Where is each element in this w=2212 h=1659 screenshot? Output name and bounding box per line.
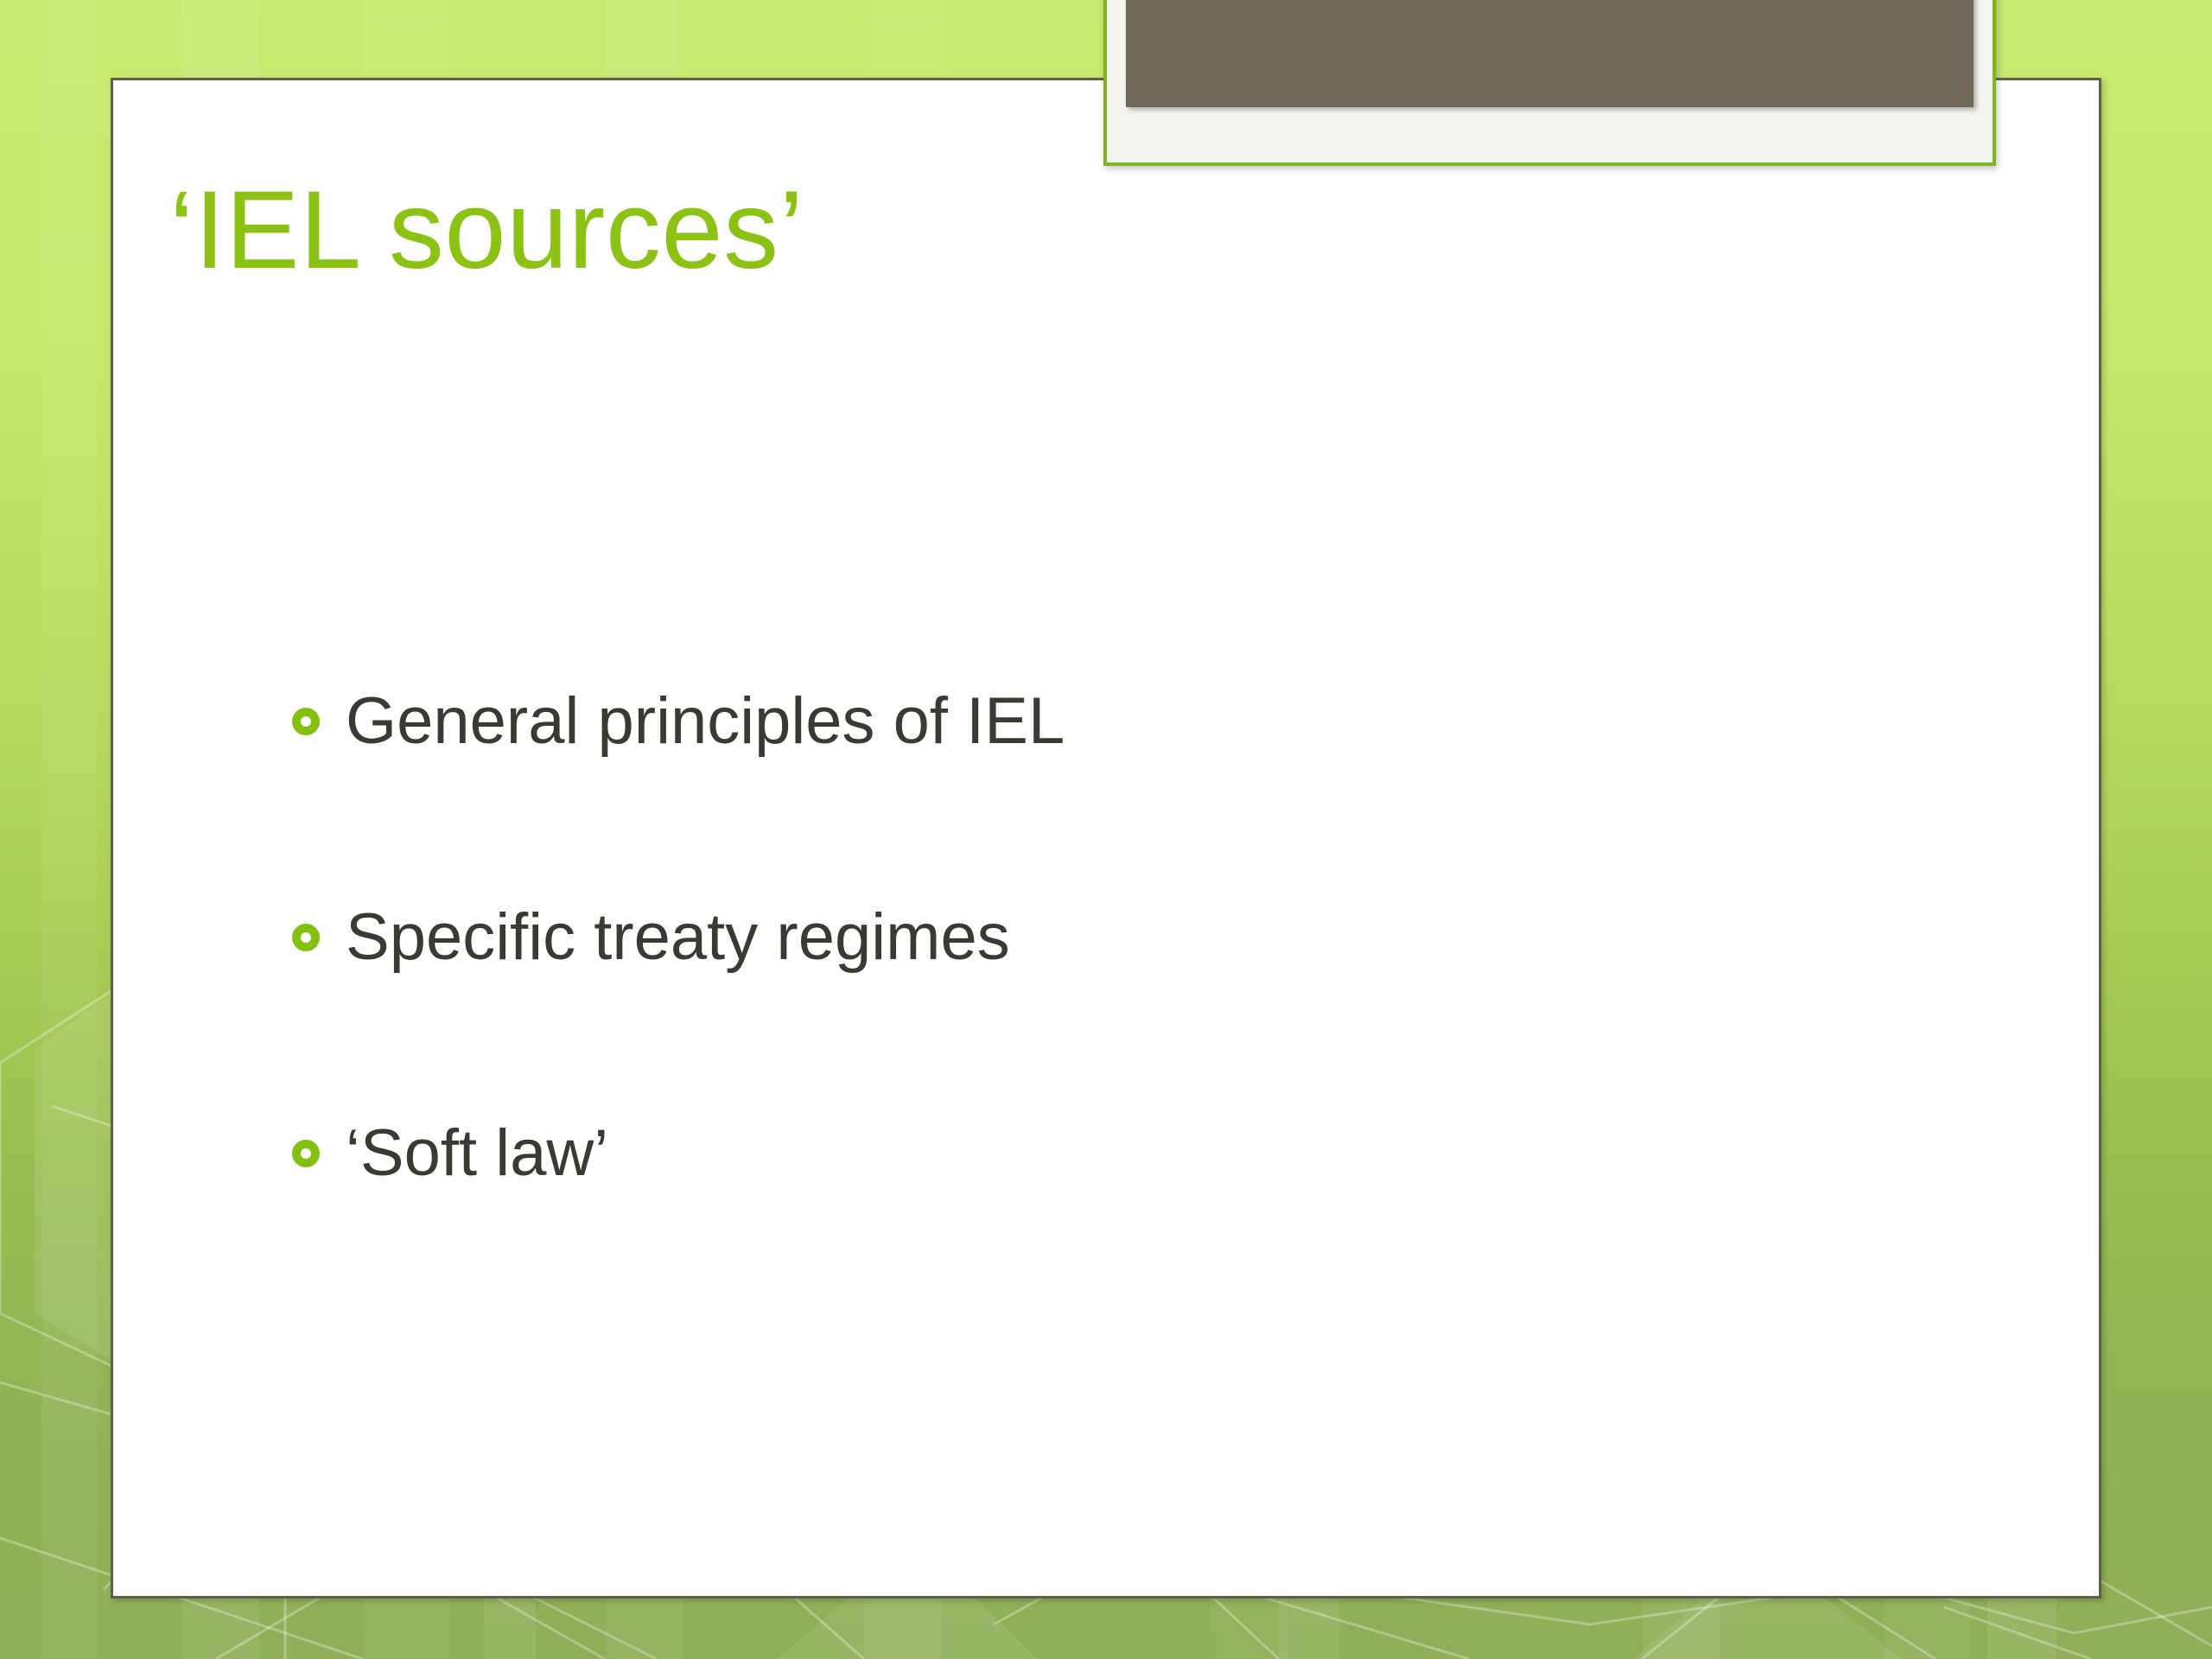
ring-bullet-icon	[292, 708, 320, 735]
list-item-label: General principles of IEL	[346, 689, 1065, 754]
list-item: General principles of IEL	[292, 674, 1847, 769]
list-item: Specific treaty regimes	[292, 890, 1847, 985]
photo-frame	[1103, 0, 1996, 166]
ring-bullet-icon	[292, 1140, 320, 1167]
photo-placeholder	[1126, 0, 1974, 107]
slide-title: ‘IEL sources’	[169, 173, 804, 289]
ring-bullet-icon	[292, 924, 320, 951]
list-item-label: Specific treaty regimes	[346, 905, 1010, 970]
list-item: ‘Soft law’	[292, 1106, 1847, 1201]
bullet-list: General principles of IEL Specific treat…	[292, 674, 1847, 1201]
list-item-label: ‘Soft law’	[346, 1121, 608, 1186]
presentation-slide: ‘IEL sources’ General principles of IEL …	[0, 0, 2212, 1659]
